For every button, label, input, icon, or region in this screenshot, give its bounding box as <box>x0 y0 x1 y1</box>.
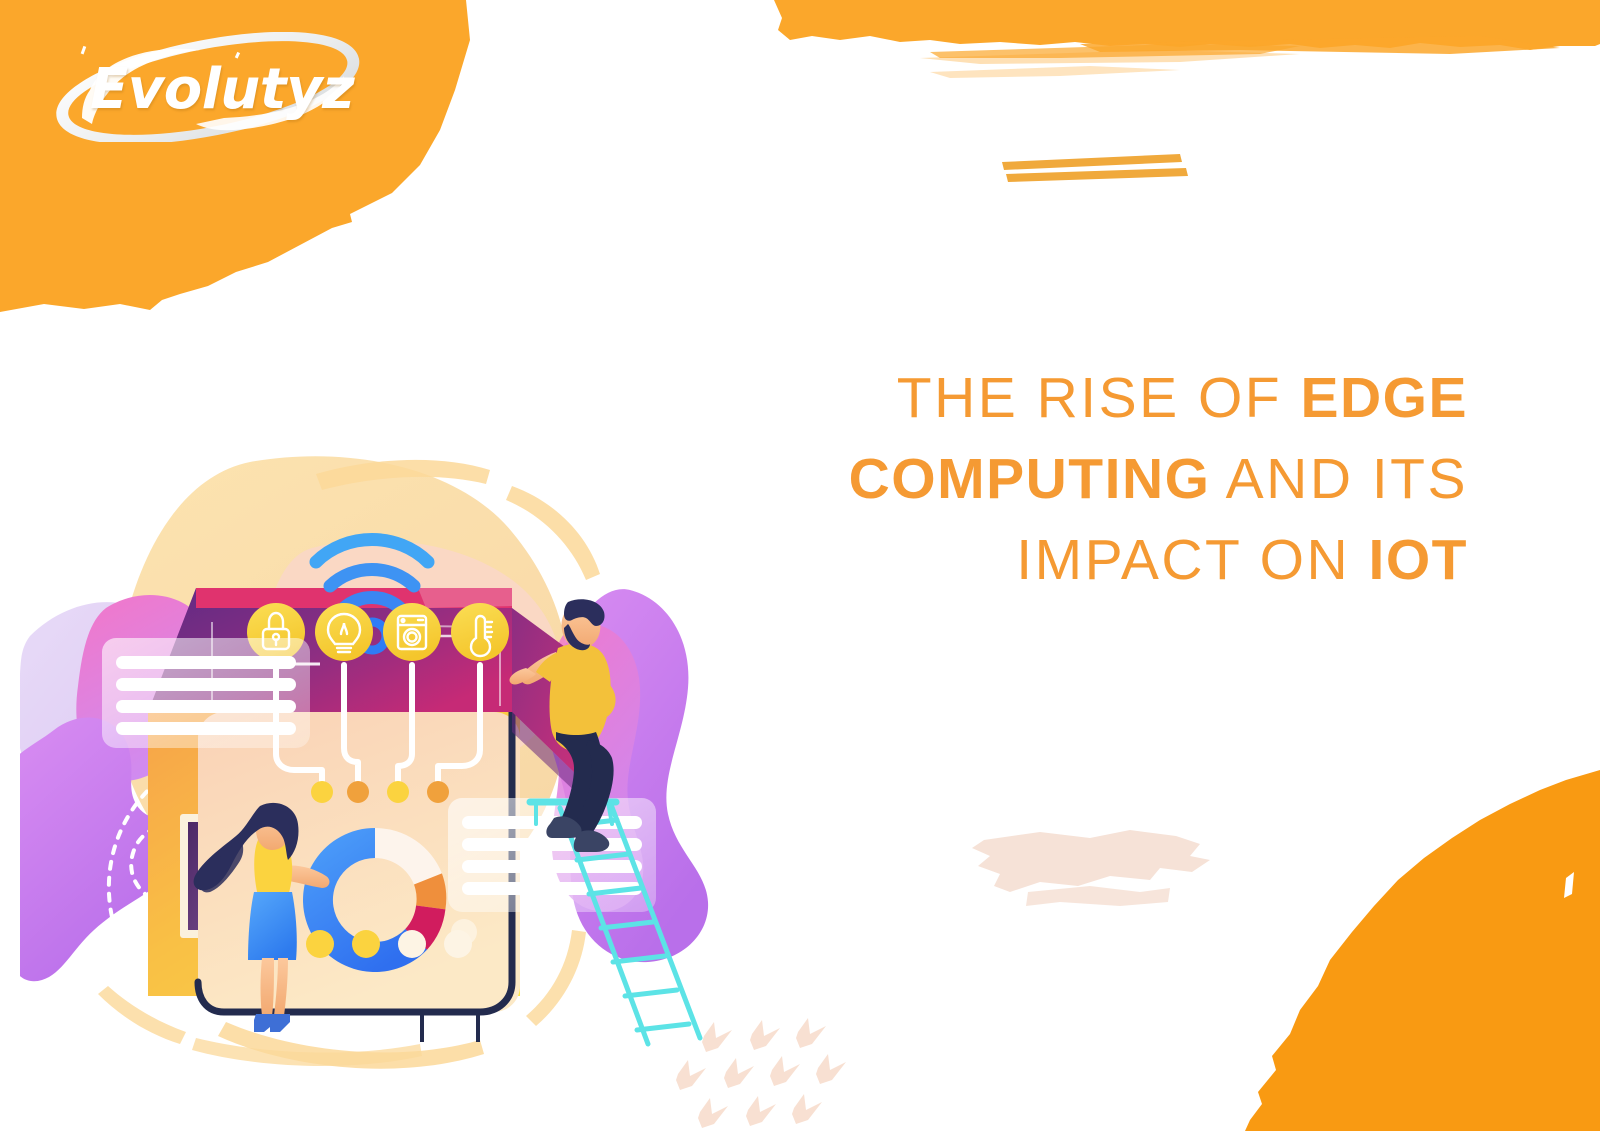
headline-seg-3a: IMPACT ON <box>1016 528 1368 592</box>
double-line-accent-lower <box>1006 168 1188 182</box>
poster-canvas: Evolutyz THE RISE OF EDGE COMPUTING AND … <box>0 0 1600 1131</box>
pagination-dot-2 <box>352 930 380 958</box>
page-title: THE RISE OF EDGE COMPUTING AND ITS IMPAC… <box>708 358 1468 601</box>
info-card-left <box>102 638 310 748</box>
headline-seg-2b: AND ITS <box>1210 447 1468 511</box>
brush-blob-bottom-right-notch <box>1564 872 1574 898</box>
device-badge-washing-machine[interactable] <box>383 603 441 661</box>
headline-line-2: COMPUTING AND ITS <box>708 439 1468 520</box>
brush-stroke-top-right-wisp <box>1080 36 1560 54</box>
brand-logo[interactable]: Evolutyz <box>38 32 378 142</box>
brush-stroke-top-right-tail <box>930 44 1300 58</box>
brush-wisp-lower <box>930 66 1180 78</box>
headline-seg-2a: COMPUTING <box>849 447 1211 511</box>
headline-line-1: THE RISE OF EDGE <box>708 358 1468 439</box>
pagination-dot-3 <box>398 930 426 958</box>
brush-wisp-upper <box>920 50 1300 64</box>
pagination-dot-1 <box>306 930 334 958</box>
brush-stroke-top-right <box>774 0 1600 50</box>
brush-smudge-beige-2 <box>1026 886 1170 906</box>
headline-line-3: IMPACT ON IOT <box>708 520 1468 601</box>
headline-seg-3b: IOT <box>1369 528 1469 592</box>
brush-blob-bottom-right <box>1245 770 1600 1131</box>
brush-smudge-beige <box>972 830 1210 892</box>
brush-blob-bottom-right-fleck <box>1256 1022 1268 1046</box>
double-line-accent-upper <box>1002 154 1182 170</box>
smart-home-iot-illustration <box>20 440 740 1100</box>
headline-seg-1b: EDGE <box>1300 366 1468 430</box>
brand-logo-text: Evolutyz <box>90 62 354 118</box>
device-badge-thermometer[interactable] <box>451 603 509 661</box>
pagination-dot-4 <box>444 930 472 958</box>
headline-seg-1a: THE RISE OF <box>897 366 1301 430</box>
house-roof-highlight <box>418 588 512 608</box>
device-badge-lightbulb[interactable] <box>315 603 373 661</box>
brush-arc-right2 <box>526 930 586 1026</box>
